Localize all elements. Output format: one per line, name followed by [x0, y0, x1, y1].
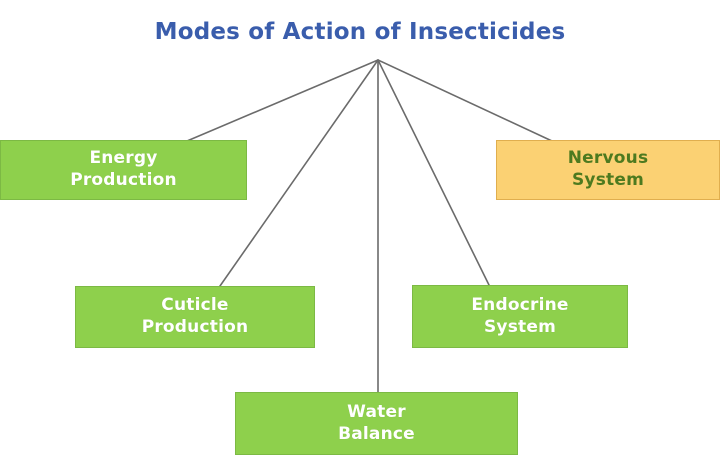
node-cuticle-production-label: Cuticle Production — [142, 295, 249, 339]
node-energy-production[interactable]: Energy Production — [0, 140, 247, 200]
connector-lines — [0, 0, 720, 459]
node-endocrine-system-label: Endocrine System — [471, 295, 568, 339]
node-cuticle-production[interactable]: Cuticle Production — [75, 286, 315, 348]
node-endocrine-system[interactable]: Endocrine System — [412, 285, 628, 348]
node-water-balance-label: Water Balance — [338, 402, 415, 446]
connector-to-endocrine-system — [378, 60, 489, 285]
node-nervous-system[interactable]: Nervous System — [496, 140, 720, 200]
node-energy-production-label: Energy Production — [70, 148, 177, 192]
node-nervous-system-label: Nervous System — [568, 148, 649, 192]
connector-to-nervous-system — [378, 60, 552, 141]
diagram-canvas: Modes of Action of Insecticides Energy P… — [0, 0, 720, 459]
node-water-balance[interactable]: Water Balance — [235, 392, 518, 455]
